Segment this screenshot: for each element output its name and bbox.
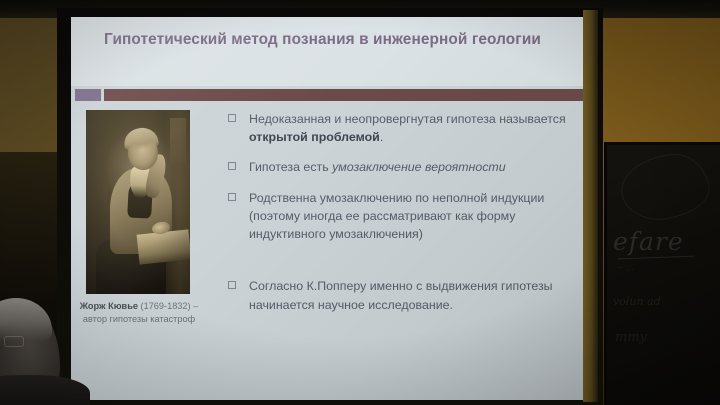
bullet-1-part-3: . — [380, 130, 383, 144]
slide-bullet-list: Недоказанная и неопровергнутая гипотеза … — [226, 110, 566, 326]
bullet-item-2: Гипотеза есть умозаключение вероятности — [226, 158, 566, 176]
bullet-1-part-2: открытой проблемой — [249, 130, 380, 144]
bullet-square-icon — [228, 114, 236, 122]
chalk-text-3: volun ad — [613, 295, 661, 308]
accent-bar — [104, 89, 583, 101]
chalk-text-2: ~ ... — [617, 263, 634, 272]
presentation-slide: Гипотетический метод познания в инженерн… — [71, 17, 583, 400]
portrait-photo — [86, 110, 190, 294]
bullet-square-icon — [228, 193, 236, 201]
photo-vignette — [86, 110, 190, 294]
projection-screen-right-edge — [583, 10, 598, 402]
photo-caption: Жорж Кювье (1769-1832) – автор гипотезы … — [79, 300, 199, 326]
bullet-item-1: Недоказанная и неопровергнутая гипотеза … — [226, 110, 566, 146]
accent-square — [75, 89, 101, 101]
chalk-text-1: efare — [613, 227, 684, 256]
blackboard: efare ~ ... volun ad mmy — [604, 142, 720, 405]
audience-glasses-icon — [4, 336, 24, 347]
photo-caption-name: Жорж Кювье — [80, 301, 138, 311]
bullet-square-icon — [228, 281, 236, 289]
slide-title: Гипотетический метод познания в инженерн… — [104, 29, 544, 51]
bullet-1-part-1: Недоказанная и неопровергнутая гипотеза … — [249, 112, 566, 126]
bullet-item-3: Родственна умозаключению по неполной инд… — [226, 189, 566, 244]
slide-title-band — [71, 17, 583, 86]
bullet-square-icon — [228, 162, 236, 170]
chalk-scribble-icon — [617, 149, 713, 225]
chalk-text-4: mmy — [615, 330, 647, 345]
bullet-2-part-2: умозаключение вероятности — [332, 160, 506, 174]
chalk-underline — [617, 256, 695, 260]
bullet-2-part-1: Гипотеза есть — [249, 160, 332, 174]
bullet-3-part-1: Родственна умозаключению по неполной инд… — [249, 191, 544, 241]
lecture-room-photo: efare ~ ... volun ad mmy Гипотетический … — [0, 0, 720, 405]
bullet-4-part-1: Согласно К.Попперу именно с выдвижения г… — [249, 279, 553, 311]
bullet-item-4: Согласно К.Попперу именно с выдвижения г… — [226, 277, 566, 313]
